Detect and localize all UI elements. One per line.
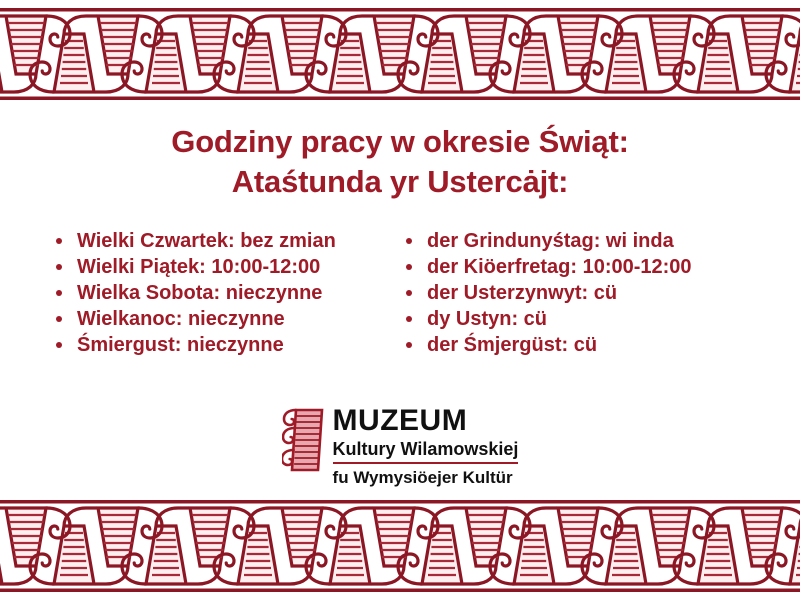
border-rule-line — [0, 97, 800, 101]
list-item-label: der Kiöerfretag: 10:00-12:00 — [427, 256, 692, 278]
list-item: der Grindunyśtag: wi inda — [402, 228, 800, 254]
title-line-wymysorys: Ataśtunda yr Ustercȧjt: — [0, 162, 800, 202]
list-item-label: dy Ustyn: cü — [427, 308, 547, 330]
bullet-icon — [406, 238, 412, 244]
museum-ornament-logo-icon — [282, 406, 326, 474]
page-title: Godziny pracy w okresie Świąt: Ataśtunda… — [0, 122, 800, 202]
bullet-icon — [406, 264, 412, 270]
title-line-polish: Godziny pracy w okresie Świąt: — [0, 122, 800, 162]
hours-list-wymysorys: der Grindunyśtag: wi inda der Kiöerfreta… — [402, 228, 800, 358]
bullet-icon — [56, 316, 62, 322]
border-pattern-top-svg — [0, 8, 800, 100]
list-item: Wielki Piątek: 10:00-12:00 — [52, 254, 390, 280]
list-item: dy Ustyn: cü — [402, 306, 800, 332]
hours-column-wymysorys: der Grindunyśtag: wi inda der Kiöerfreta… — [390, 228, 800, 358]
list-item-label: Wielkanoc: nieczynne — [77, 308, 285, 330]
list-item: der Śmjergüst: cü — [402, 332, 800, 358]
bullet-icon — [406, 316, 412, 322]
list-item: der Usterzynwyt: cü — [402, 280, 800, 306]
bullet-icon — [56, 264, 62, 270]
hours-list-polish: Wielki Czwartek: bez zmian Wielki Piątek… — [52, 228, 390, 358]
bullet-icon — [406, 342, 412, 348]
bullet-icon — [56, 342, 62, 348]
border-pattern-repeats — [0, 16, 800, 92]
logo-subtitle-pl: Kultury Wilamowskiej — [333, 436, 519, 464]
list-item-label: Śmiergust: nieczynne — [77, 334, 284, 356]
bullet-icon — [56, 238, 62, 244]
list-item: der Kiöerfretag: 10:00-12:00 — [402, 254, 800, 280]
museum-logo: MUZEUM Kultury Wilamowskiej fu Wymysiöej… — [0, 406, 800, 489]
list-item: Wielka Sobota: nieczynne — [52, 280, 390, 306]
list-item: Wielki Czwartek: bez zmian — [52, 228, 390, 254]
list-item: Wielkanoc: nieczynne — [52, 306, 390, 332]
border-rule-line — [0, 500, 800, 504]
bullet-icon — [406, 290, 412, 296]
border-pattern-bottom-svg — [0, 500, 800, 592]
decorative-border-top — [0, 8, 800, 100]
border-rule-line — [0, 8, 800, 12]
decorative-border-bottom — [0, 500, 800, 592]
list-item-label: Wielki Piątek: 10:00-12:00 — [77, 256, 320, 278]
list-item-label: der Śmjergüst: cü — [427, 334, 597, 356]
border-pattern-repeats — [0, 508, 800, 584]
bullet-icon — [56, 290, 62, 296]
list-item-label: Wielki Czwartek: bez zmian — [77, 230, 336, 252]
border-rule-line — [0, 589, 800, 593]
museum-logo-text: MUZEUM Kultury Wilamowskiej fu Wymysiöej… — [333, 406, 519, 489]
logo-title: MUZEUM — [333, 406, 468, 436]
opening-hours-section: Wielki Czwartek: bez zmian Wielki Piątek… — [0, 228, 800, 358]
poster-root: Godziny pracy w okresie Świąt: Ataśtunda… — [0, 0, 800, 600]
list-item-label: der Grindunyśtag: wi inda — [427, 230, 674, 252]
hours-column-polish: Wielki Czwartek: bez zmian Wielki Piątek… — [0, 228, 390, 358]
list-item-label: der Usterzynwyt: cü — [427, 282, 617, 304]
list-item-label: Wielka Sobota: nieczynne — [77, 282, 322, 304]
list-item: Śmiergust: nieczynne — [52, 332, 390, 358]
logo-subtitle-wym: fu Wymysiöejer Kultür — [333, 464, 513, 489]
